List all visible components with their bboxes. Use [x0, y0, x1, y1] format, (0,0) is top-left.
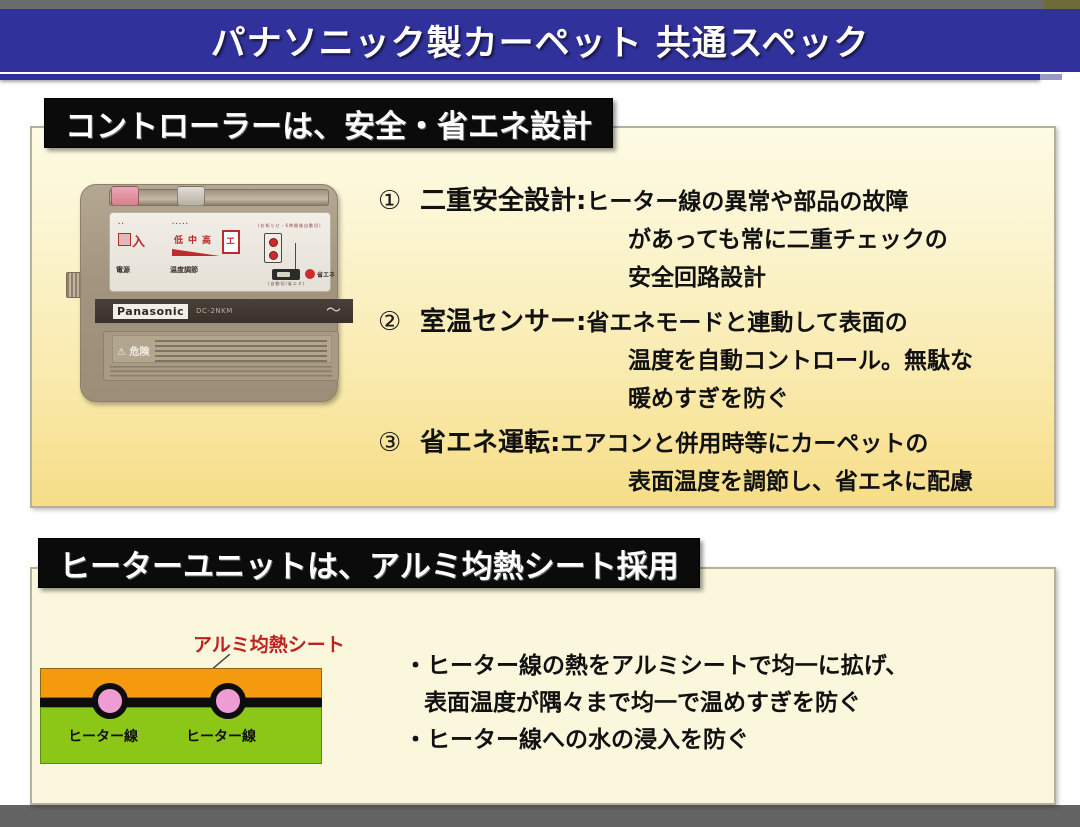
- eco-remote-icon: [264, 233, 282, 263]
- eco-highlight-box: エ: [222, 230, 240, 254]
- spec-term-1: 二重安全設計:: [420, 186, 586, 216]
- surface-layer: [40, 668, 322, 698]
- heater-wire-right-icon: [210, 683, 246, 719]
- spec-number-2: ②: [378, 303, 420, 341]
- spec-line-3-2: 表面温度を調節し、省エネに配慮: [420, 463, 1048, 501]
- title-underline-tail: [1040, 74, 1062, 80]
- spec-item-2: ② 室温センサー:省エネモードと連動して表面の 温度を自動コントロール。無駄な …: [378, 303, 1048, 418]
- spec-line-1-3: 安全回路設計: [420, 259, 1048, 297]
- level-micro-label: •••••: [172, 221, 189, 226]
- temperature-slider-knob: [177, 186, 205, 206]
- eco-highlight-mark: エ: [226, 234, 235, 247]
- heater-cross-section-diagram: アルミ均熱シート ヒーター線 ヒーター線: [38, 630, 388, 770]
- controller-body: •• 入 電源 ••••• 低中高 エ 温度調節 (お知らせ・6時間後自動切): [80, 184, 338, 402]
- spec-line-2-2: 温度を自動コントロール。無駄な: [420, 342, 1048, 380]
- wave-icon: 〜: [326, 303, 341, 318]
- temperature-levels: 低中高: [174, 233, 216, 246]
- power-label: 電源: [116, 265, 130, 275]
- eco-dot-upper: [269, 238, 278, 247]
- heater-bullet-1: ・ヒーター線の熱をアルミシートで均一に拡げ、: [404, 648, 1044, 685]
- warning-label-plate: ⚠ 危険: [103, 331, 339, 381]
- alu-sheet-callout-label: アルミ均熱シート: [193, 630, 345, 657]
- controller-spec-list: ① 二重安全設計:ヒーター線の異常や部品の故障 があっても常に二重チェックの 安…: [378, 182, 1048, 507]
- warning-inner-box: ⚠ 危険: [112, 335, 332, 363]
- spec-line-2-1: 省エネモードと連動して表面の: [586, 310, 907, 336]
- heater-bullet-list: ・ヒーター線の熱をアルミシートで均一に拡げ、 表面温度が隅々まで均一で温めすぎを…: [404, 648, 1044, 759]
- spec-line-1-1: ヒーター線の異常や部品の故障: [586, 189, 908, 215]
- controller-section-header-text: コントローラーは、安全・省エネ設計: [65, 101, 592, 146]
- heater-wire-label-right: ヒーター線: [186, 726, 256, 746]
- temperature-control-label: 温度調節: [170, 265, 198, 275]
- heater-section-header: ヒーターユニットは、アルミ均熱シート採用: [38, 538, 700, 588]
- power-indicator-box: [118, 233, 131, 246]
- controller-device-illustration: •• 入 電源 ••••• 低中高 エ 温度調節 (お知らせ・6時間後自動切): [66, 184, 338, 402]
- aluminum-heat-sheet-layer: [40, 698, 322, 707]
- warning-footnote-lines: [110, 366, 332, 379]
- spec-line-1-2: があっても常に二重チェックの: [420, 221, 1048, 259]
- power-on-glyph: 入: [132, 231, 145, 250]
- controller-face-plate: •• 入 電源 ••••• 低中高 エ 温度調節 (お知らせ・6時間後自動切): [109, 212, 331, 292]
- eco-micro-bottom: (自動切/省エネ): [268, 281, 305, 287]
- heater-wire-left-icon: [92, 683, 128, 719]
- temperature-wedge-icon: [172, 249, 220, 256]
- power-slider-knob: [111, 186, 139, 206]
- model-number: DC-2NKM: [196, 307, 233, 315]
- slider-rail: [109, 189, 329, 206]
- spec-body-2: 室温センサー:省エネモードと連動して表面の 温度を自動コントロール。無駄な 暖め…: [420, 303, 1048, 418]
- spec-line-3-1: エアコンと併用時等にカーペットの: [560, 431, 928, 457]
- eco-mode-diagram: (お知らせ・6時間後自動切) 省エネ (自動切/省エネ): [258, 223, 328, 287]
- danger-warning-icon: ⚠ 危険: [117, 343, 149, 358]
- heater-bullet-1-cont: 表面温度が隅々まで均一で温めすぎを防ぐ: [404, 685, 1044, 722]
- layer-stack: ヒーター線 ヒーター線: [40, 668, 322, 764]
- spec-number-1: ①: [378, 182, 420, 220]
- eco-led-icon: [305, 269, 315, 279]
- eco-micro-top: (お知らせ・6時間後自動切): [258, 223, 322, 229]
- spec-item-3: ③ 省エネ運転:エアコンと併用時等にカーペットの 表面温度を調節し、省エネに配慮: [378, 424, 1048, 501]
- eco-label: 省エネ: [317, 270, 335, 279]
- spec-body-3: 省エネ運転:エアコンと併用時等にカーペットの 表面温度を調節し、省エネに配慮: [420, 424, 1048, 501]
- power-micro-label: ••: [118, 221, 125, 226]
- title-underline: [0, 74, 1040, 80]
- eco-wire-line: [282, 243, 296, 271]
- spec-item-1: ① 二重安全設計:ヒーター線の異常や部品の故障 があっても常に二重チェックの 安…: [378, 182, 1048, 297]
- bottom-chrome-strip: [0, 805, 1080, 827]
- slide-title-banner: パナソニック製カーペット 共通スペック: [0, 9, 1080, 72]
- spec-term-2: 室温センサー:: [420, 307, 586, 337]
- controller-section-header: コントローラーは、安全・省エネ設計: [44, 98, 613, 148]
- spec-body-1: 二重安全設計:ヒーター線の異常や部品の故障 があっても常に二重チェックの 安全回…: [420, 182, 1048, 297]
- heater-wire-label-left: ヒーター線: [68, 726, 138, 746]
- eco-switch-icon: [272, 269, 300, 280]
- eco-switch-inner: [277, 272, 290, 277]
- spec-line-2-3: 暖めすぎを防ぐ: [420, 380, 1048, 418]
- brand-band: Panasonic DC-2NKM 〜: [95, 299, 353, 323]
- panasonic-logo: Panasonic: [113, 304, 188, 319]
- warning-text-lines: [155, 340, 327, 362]
- top-chrome-accent: [1044, 0, 1080, 9]
- eco-dot-lower: [269, 251, 278, 260]
- spec-term-3: 省エネ運転:: [420, 428, 560, 458]
- slide-title: パナソニック製カーペット 共通スペック: [211, 15, 870, 66]
- spec-number-3: ③: [378, 424, 420, 462]
- top-chrome-strip: [0, 0, 1080, 9]
- heater-section-header-text: ヒーターユニットは、アルミ均熱シート採用: [59, 541, 679, 586]
- heater-bullet-2: ・ヒーター線への水の浸入を防ぐ: [404, 722, 1044, 759]
